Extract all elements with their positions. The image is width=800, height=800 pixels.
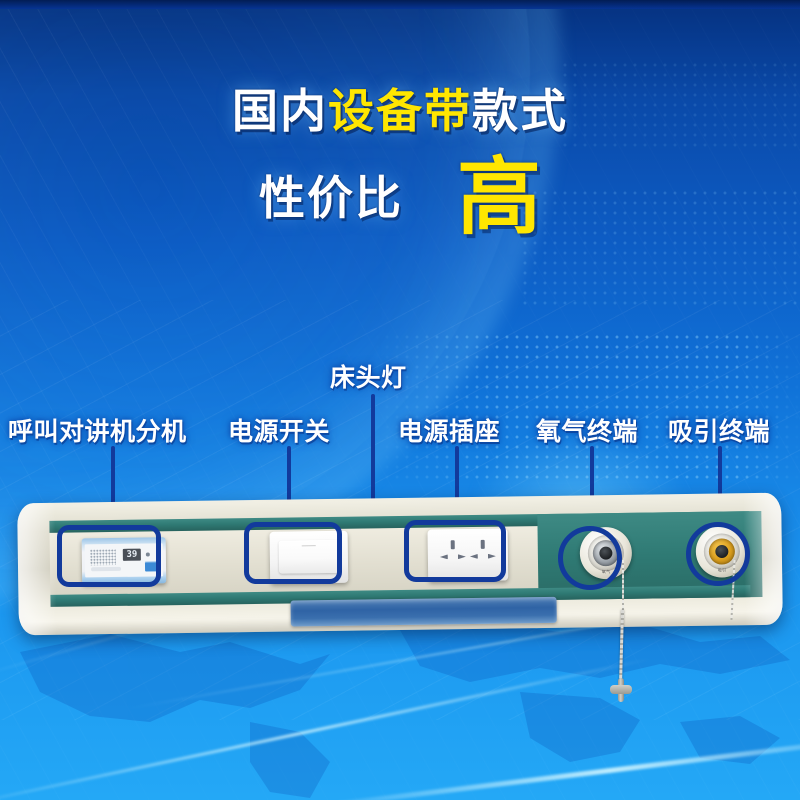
callout-label-power-socket: 电源插座 [398,412,500,448]
callout-label-power-switch: 电源开关 [228,412,330,448]
headline-part-3: 款式 [472,84,568,138]
background-dot-grid-main [372,332,800,482]
callout-label-intercom: 呼叫对讲机分机 [8,412,187,448]
screenshot-stage: 国内设备带款式 性价比 高 呼叫对讲机分机 电源开关 床头灯 电源插座 氧气终端… [0,0,800,800]
panel-end-cap-left [17,503,57,636]
highlight-circle-suction [686,522,750,586]
headline-subtitle: 性价比 [259,175,403,221]
headline-line-2: 性价比 高 [0,160,800,236]
highlight-box-power-switch [244,522,342,584]
bottom-background [0,612,800,800]
top-navy-band [0,0,800,9]
callout-label-bed-lamp: 床头灯 [330,358,407,394]
highlight-box-intercom [57,525,161,587]
callout-label-oxygen: 氧气终端 [536,412,638,448]
headline-emphasis: 高 [457,160,541,236]
headline-part-2: 设备带 [328,84,472,138]
pull-cord-handle[interactable] [610,678,632,702]
highlight-box-power-socket [404,520,506,582]
bed-lamp-diffuser [290,597,556,627]
pull-cord-upper [622,560,624,616]
headline-block: 国内设备带款式 性价比 高 [0,88,800,236]
callout-label-suction: 吸引终端 [668,412,770,448]
handle-crossbar [610,685,632,694]
headline-part-1: 国内 [232,84,328,138]
headline-line-1: 国内设备带款式 [0,88,800,134]
highlight-circle-oxygen [558,526,622,590]
